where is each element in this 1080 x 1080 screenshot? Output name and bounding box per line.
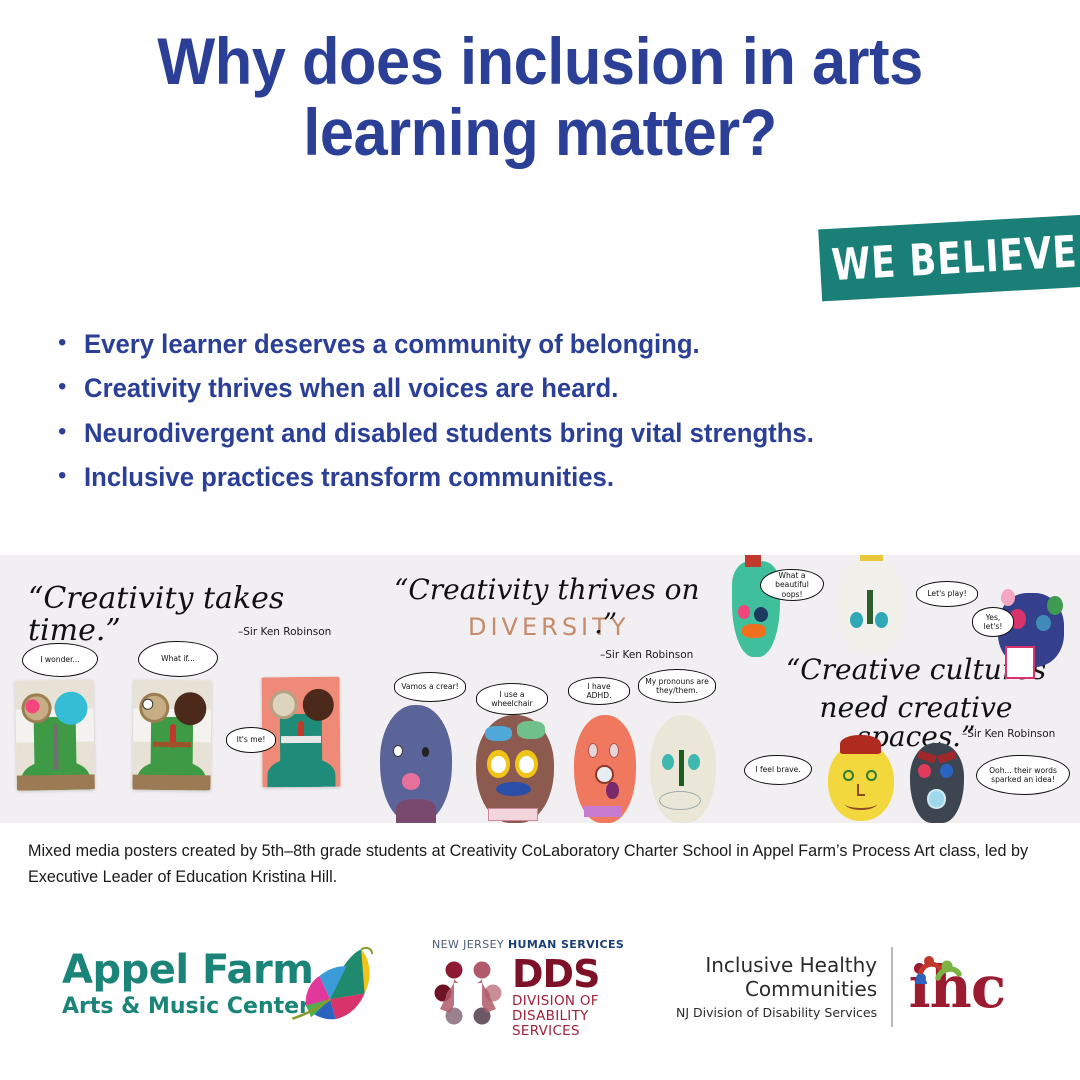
- artwork-panel-creative-cultures: “Creative cultures need creative spaces.…: [720, 555, 1080, 823]
- speech-bubble: I wonder...: [22, 643, 98, 677]
- dds-line-2: DISABILITY: [512, 1009, 599, 1024]
- logo-appel-farm: Appel Farm Arts & Music Center: [62, 950, 313, 1018]
- logo-ihc: Inclusive Healthy Communities NJ Divisio…: [676, 947, 1005, 1027]
- speech-bubble: Ooh... their words sparked an idea!: [976, 755, 1070, 795]
- ihc-line-3: NJ Division of Disability Services: [676, 1005, 877, 1020]
- speech-bubble: I use a wheelchair: [476, 683, 548, 715]
- ihc-line-1: Inclusive Healthy: [676, 954, 877, 978]
- partner-logos: Appel Farm Arts & Music Center NEW: [0, 925, 1080, 1080]
- dds-people-icon: [432, 957, 504, 1034]
- student-artwork-photo: [15, 679, 95, 790]
- dds-line-1: DIVISION OF: [512, 994, 599, 1009]
- panel-b-attribution: –Sir Ken Robinson: [600, 649, 693, 661]
- list-item: • Every learner deserves a community of …: [58, 328, 1018, 360]
- dds-agency-line: NEW JERSEY HUMAN SERVICES: [432, 938, 647, 951]
- we-believe-label: WE BELIEVE: [830, 226, 1078, 290]
- speech-bubble: I have ADHD.: [568, 677, 630, 705]
- list-item: • Neurodivergent and disabled students b…: [58, 417, 1018, 449]
- belief-text: Every learner deserves a community of be…: [84, 328, 700, 360]
- speech-bubble: Yes, let's!: [972, 607, 1014, 637]
- student-artwork-figure: [838, 557, 904, 655]
- panel-b-quote-end: .”: [594, 609, 617, 638]
- student-artwork-photo: [132, 680, 211, 791]
- speech-bubble: Vamos a crear!: [394, 672, 466, 702]
- dds-agency-prefix: NEW JERSEY: [432, 938, 508, 951]
- bullet-icon: •: [58, 331, 84, 355]
- speech-bubble: My pronouns are they/them.: [638, 669, 716, 703]
- we-believe-badge: WE BELIEVE: [818, 215, 1080, 302]
- speech-bubble: I feel brave.: [744, 755, 812, 785]
- belief-text: Creativity thrives when all voices are h…: [84, 372, 618, 404]
- dds-agency-bold: HUMAN SERVICES: [508, 938, 624, 951]
- artwork-panel-creativity-thrives-diversity: “Creativity thrives on DIVERSITY .” –Sir…: [372, 555, 722, 823]
- student-artwork-figure: [828, 743, 894, 821]
- bullet-icon: •: [58, 464, 84, 488]
- dds-line-3: SERVICES: [512, 1024, 599, 1039]
- page-title: Why does inclusion in arts learning matt…: [0, 26, 1080, 169]
- speech-bubble: What if...: [138, 641, 218, 677]
- artwork-caption: Mixed media posters created by 5th–8th g…: [28, 838, 1037, 891]
- title-line-1: Why does inclusion in arts: [38, 26, 1042, 97]
- bullet-icon: •: [58, 420, 84, 444]
- list-item: • Inclusive practices transform communit…: [58, 461, 1018, 493]
- student-artwork-figure: [574, 715, 636, 823]
- student-artwork-figure: [650, 715, 716, 823]
- appel-farm-tagline: Arts & Music Center: [62, 996, 313, 1018]
- dds-acronym: DDS: [512, 957, 599, 992]
- speech-bubble: What a beautiful oops!: [760, 569, 824, 601]
- title-line-2: learning matter?: [38, 97, 1042, 168]
- student-artwork-figure: [910, 743, 964, 823]
- bullet-icon: •: [58, 375, 84, 399]
- artwork-panel-creativity-takes-time: “Creativity takes time.” –Sir Ken Robins…: [0, 555, 370, 823]
- panel-b-quote-line1: “Creativity thrives on: [394, 575, 714, 604]
- ihc-line-2: Communities: [676, 978, 877, 1002]
- logo-nj-dds: NEW JERSEY HUMAN SERVICES DDS DIVISION O…: [432, 938, 647, 1039]
- belief-text: Inclusive practices transform communitie…: [84, 461, 614, 493]
- student-artwork-figure: [380, 705, 452, 823]
- speech-bubble: Let's play!: [916, 581, 978, 607]
- appel-farm-name: Appel Farm: [62, 950, 313, 990]
- belief-list: • Every learner deserves a community of …: [58, 328, 1018, 505]
- panel-c-attribution: –Sir Ken Robinson: [962, 728, 1055, 740]
- student-artwork-strip: “Creativity takes time.” –Sir Ken Robins…: [0, 555, 1080, 823]
- speech-bubble: It's me!: [226, 727, 276, 753]
- panel-a-attribution: –Sir Ken Robinson: [238, 626, 331, 638]
- people-icon: [907, 952, 967, 993]
- leaf-icon: [290, 938, 380, 1035]
- list-item: • Creativity thrives when all voices are…: [58, 372, 1018, 404]
- student-artwork-photo: [262, 677, 341, 788]
- belief-text: Neurodivergent and disabled students bri…: [84, 417, 814, 449]
- student-artwork-figure: [476, 715, 554, 823]
